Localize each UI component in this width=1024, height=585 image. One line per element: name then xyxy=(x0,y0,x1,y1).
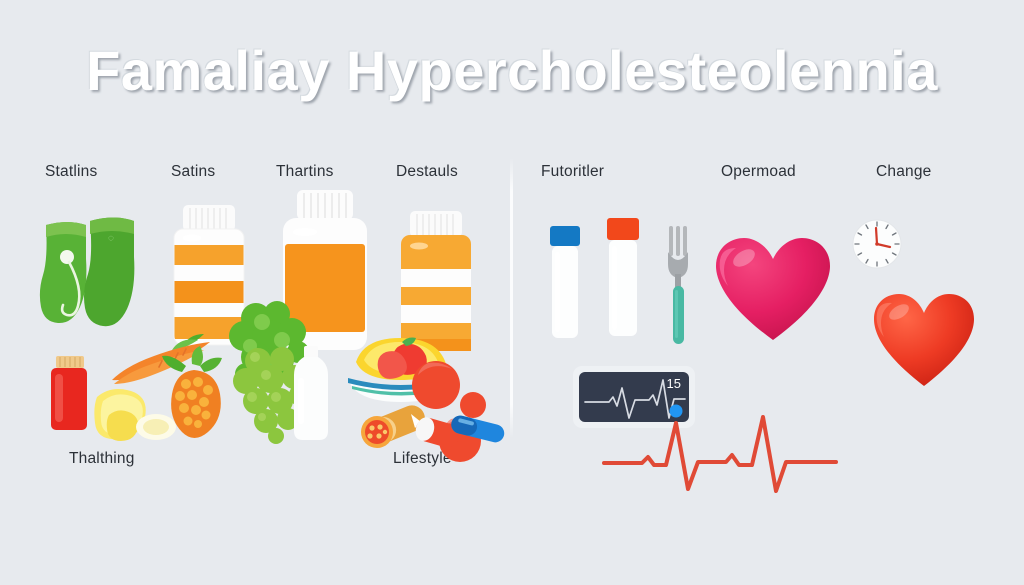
label-futoritler: Futoritler xyxy=(541,163,604,181)
pill-bottle-small-right xyxy=(395,211,477,351)
white-bottle-icon xyxy=(288,346,334,442)
red-heart-icon xyxy=(872,292,976,388)
green-socks-icon: ◌ xyxy=(38,215,158,330)
label-statlins: Statlins xyxy=(45,163,97,181)
clock-icon xyxy=(851,218,903,270)
svg-text:◌: ◌ xyxy=(108,233,114,244)
test-tube-blue-icon xyxy=(549,226,581,342)
monitor-reading: 15 xyxy=(667,376,681,391)
fork-icon xyxy=(665,226,695,344)
pink-heart-icon xyxy=(714,236,832,342)
page-title: Famaliay Hypercholesteolennia xyxy=(0,38,1024,103)
label-thalthing: Thalthing xyxy=(69,450,135,468)
label-change: Change xyxy=(876,163,932,181)
label-thartins: Thartins xyxy=(276,163,334,181)
label-destauls: Destauls xyxy=(396,163,458,181)
red-bottle-icon xyxy=(46,356,94,432)
illustration-canvas: Famaliay Hypercholesteolennia Statlins S… xyxy=(0,0,1024,585)
heartbeat-line-icon xyxy=(600,405,840,495)
vertical-divider xyxy=(510,158,513,438)
test-tube-red-icon xyxy=(606,218,640,340)
label-opermoad: Opermoad xyxy=(721,163,796,181)
berry-fruit-icon xyxy=(156,350,236,442)
label-satins: Satins xyxy=(171,163,215,181)
blue-capsule-icon xyxy=(447,412,509,444)
